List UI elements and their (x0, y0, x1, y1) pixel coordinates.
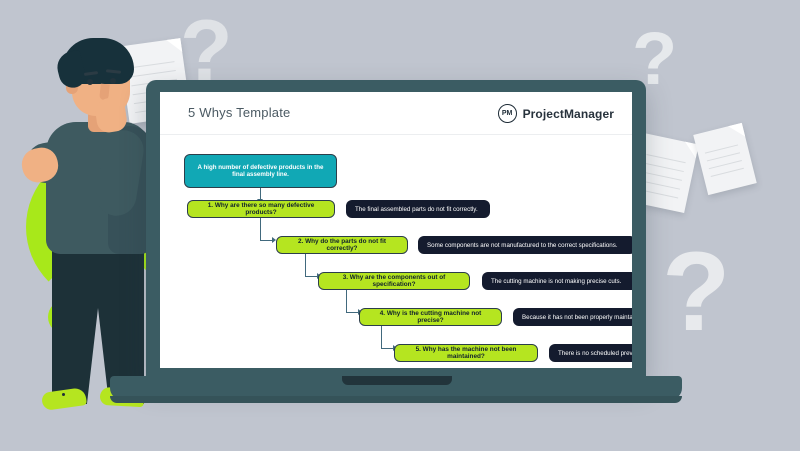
why-answer-2[interactable]: Some components are not manufactured to … (418, 236, 632, 254)
connector-q4-down (381, 326, 382, 349)
why-answer-4[interactable]: Because it has not been properly maintai… (513, 308, 632, 326)
pm-circle-icon: PM (498, 104, 517, 123)
page-title: 5 Whys Template (188, 105, 290, 120)
why-answer-1[interactable]: The final assembled parts do not fit cor… (346, 200, 490, 218)
laptop-trackpad (342, 376, 452, 385)
connector-q1-down (260, 218, 261, 241)
why-question-4[interactable]: 4. Why is the cutting machine not precis… (359, 308, 502, 326)
connector-q3-down (346, 290, 347, 313)
document-header: 5 Whys Template PM ProjectManager (160, 92, 632, 134)
laptop-base-lip (110, 396, 682, 403)
question-mark-right-bottom-icon: ? (662, 236, 730, 348)
why-question-5[interactable]: 5. Why has the machine not been maintain… (394, 344, 538, 362)
why-answer-3[interactable]: The cutting machine is not making precis… (482, 272, 632, 290)
why-question-3[interactable]: 3. Why are the components out of specifi… (318, 272, 470, 290)
connector-q2-down (305, 254, 306, 277)
brand-name: ProjectManager (523, 107, 614, 121)
brand-logo: PM ProjectManager (498, 104, 614, 123)
problem-statement-box[interactable]: A high number of defective products in t… (184, 154, 337, 188)
why-question-2[interactable]: 2. Why do the parts do not fit correctly… (276, 236, 408, 254)
why-question-1[interactable]: 1. Why are there so many defective produ… (187, 200, 335, 218)
illustration-scene: ? ? ? (0, 0, 800, 451)
diagram-canvas: A high number of defective products in t… (160, 135, 632, 368)
laptop-screen: 5 Whys Template PM ProjectManager A high… (160, 92, 632, 368)
template-document: 5 Whys Template PM ProjectManager A high… (160, 92, 632, 368)
paper-sheet-3-icon (693, 123, 757, 195)
laptop-mockup: 5 Whys Template PM ProjectManager A high… (146, 80, 646, 380)
why-answer-5[interactable]: There is no scheduled preventive mainten… (549, 344, 632, 362)
